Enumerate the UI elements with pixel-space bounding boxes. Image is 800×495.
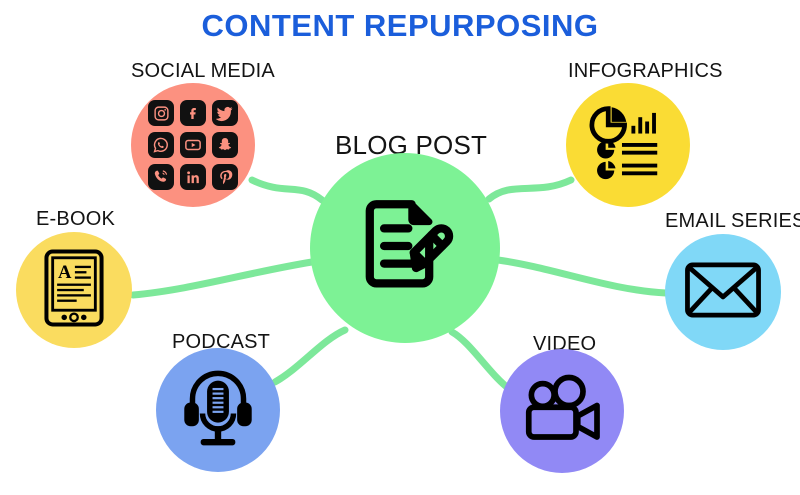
bubble-infographics[interactable] (566, 83, 690, 207)
bubble-blog-post[interactable] (310, 153, 500, 343)
svg-text:A: A (58, 262, 72, 283)
pinterest-icon[interactable] (212, 164, 238, 190)
bubble-social-media[interactable] (131, 83, 255, 207)
instagram-icon[interactable] (148, 100, 174, 126)
social-media-grid-icon (148, 100, 238, 190)
node-label-infographics: INFOGRAPHICS (568, 60, 723, 83)
connector-podcast (275, 330, 345, 382)
connector-email-series (498, 260, 666, 293)
node-label-email-series: EMAIL SERIES (665, 210, 800, 233)
ereader-tablet-icon: A (41, 248, 107, 333)
node-label-social-media: SOCIAL MEDIA (131, 60, 275, 83)
linkedin-icon[interactable] (180, 164, 206, 190)
viber-icon[interactable] (148, 164, 174, 190)
movie-camera-icon (520, 374, 604, 449)
bubble-video[interactable] (500, 349, 624, 473)
infographic-canvas: CONTENT REPURPOSING BLOG POST (0, 0, 800, 495)
envelope-icon (684, 259, 762, 326)
bubble-podcast[interactable] (156, 348, 280, 472)
facebook-icon[interactable] (180, 100, 206, 126)
connector-social-media (252, 180, 322, 200)
connector-infographics (489, 180, 571, 199)
chart-list-icon (585, 100, 671, 191)
connector-e-book (133, 262, 312, 295)
bubble-e-book[interactable]: A (16, 232, 132, 348)
node-label-e-book: E-BOOK (36, 208, 115, 231)
document-pencil-icon (350, 191, 460, 306)
connector-video (452, 332, 508, 388)
twitter-icon[interactable] (212, 100, 238, 126)
whatsapp-icon[interactable] (148, 132, 174, 158)
youtube-icon[interactable] (180, 132, 206, 158)
microphone-headphones-icon (177, 366, 259, 455)
snapchat-icon[interactable] (212, 132, 238, 158)
bubble-email-series[interactable] (665, 234, 781, 350)
